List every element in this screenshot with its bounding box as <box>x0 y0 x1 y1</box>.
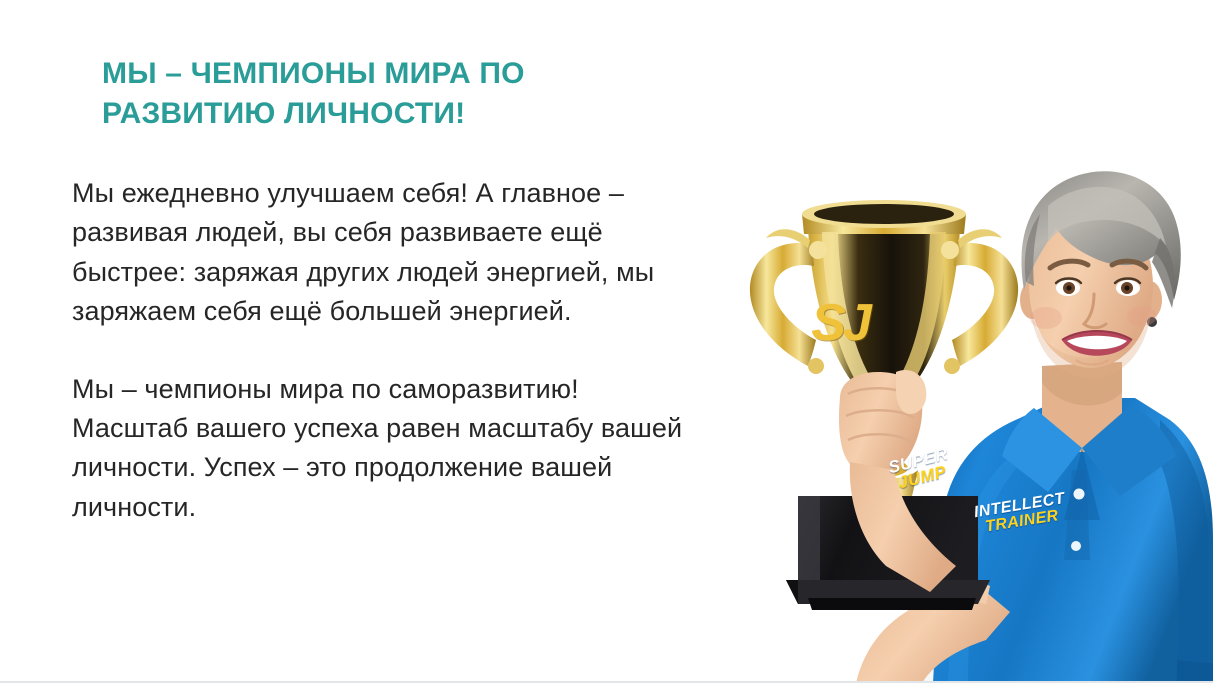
text-column: МЫ – ЧЕМПИОНЫ МИРА ПО РАЗВИТИЮ ЛИЧНОСТИ!… <box>0 0 700 683</box>
body-paragraph-1: Мы ежедневно улучшаем себя! А главное – … <box>72 174 684 332</box>
page-title: МЫ – ЧЕМПИОНЫ МИРА ПО РАЗВИТИЮ ЛИЧНОСТИ! <box>102 54 622 133</box>
body-paragraph-2: Мы – чемпионы мира по саморазвитию! Масш… <box>72 370 684 528</box>
slide-canvas: МЫ – ЧЕМПИОНЫ МИРА ПО РАЗВИТИЮ ЛИЧНОСТИ!… <box>0 0 1213 683</box>
woman-holding-trophy-photo: SJ SUPER JUMP INTELLECT TRAINER <box>690 0 1213 683</box>
body-text-block: Мы ежедневно улучшаем себя! А главное – … <box>72 174 684 527</box>
